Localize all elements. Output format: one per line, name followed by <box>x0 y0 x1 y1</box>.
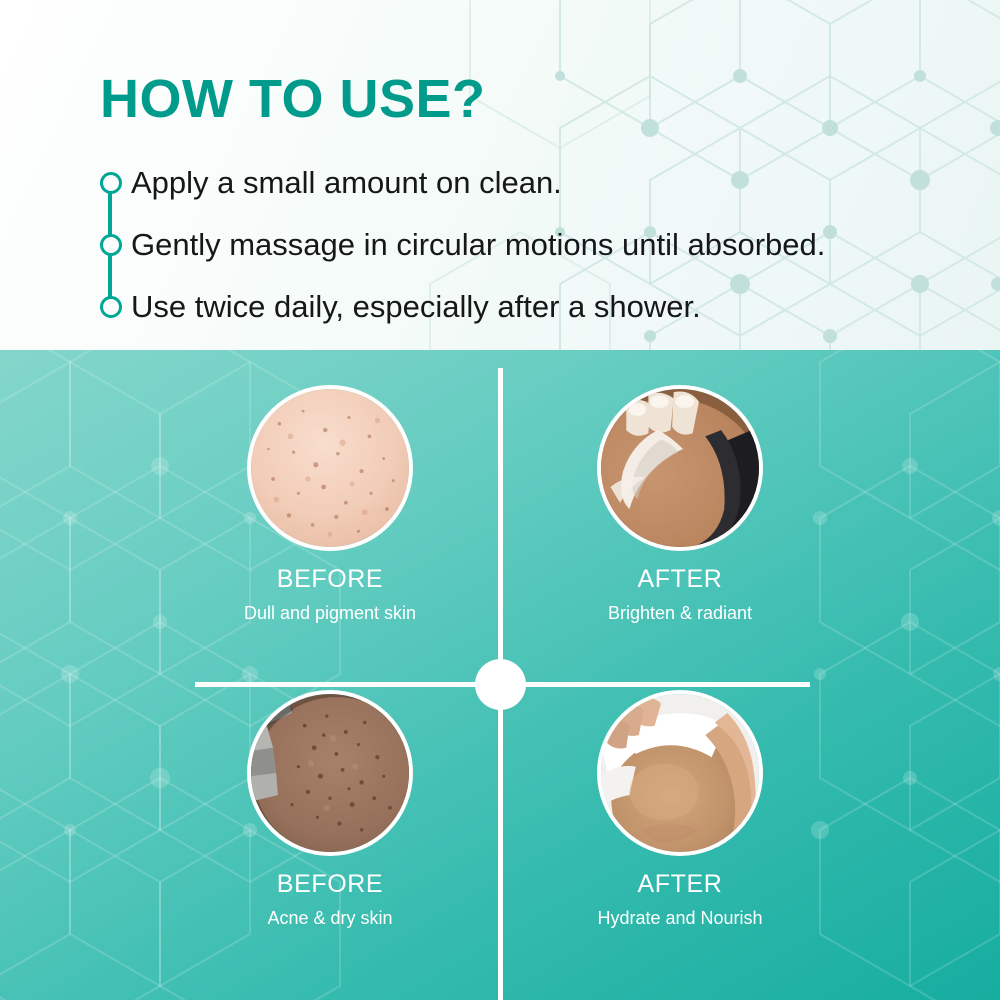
comparison-caption: Dull and pigment skin <box>170 603 490 624</box>
step-marker-icon <box>100 234 122 256</box>
before-after-comparison-panel: BEFORE Dull and pigment skin <box>0 350 1000 1000</box>
comparison-label: AFTER <box>520 565 840 594</box>
comparison-cell-bottom-right: AFTER Hydrate and Nourish <box>520 690 840 929</box>
comparison-cell-bottom-left: BEFORE Acne & dry skin <box>170 690 490 929</box>
after-hydrated-skin-photo <box>597 690 763 856</box>
step-text: Use twice daily, especially after a show… <box>131 290 701 324</box>
how-to-use-poster: HOW TO USE? Apply a small amount on clea… <box>0 0 1000 1000</box>
page-title: HOW TO USE? <box>100 72 486 126</box>
step-marker-icon <box>100 172 122 194</box>
step-item: Gently massage in circular motions until… <box>97 214 957 276</box>
usage-steps-list: Apply a small amount on clean. Gently ma… <box>97 152 957 338</box>
step-item: Use twice daily, especially after a show… <box>97 276 957 338</box>
comparison-cell-top-left: BEFORE Dull and pigment skin <box>170 385 490 624</box>
comparison-label: AFTER <box>520 870 840 899</box>
step-text: Apply a small amount on clean. <box>131 166 562 200</box>
step-item: Apply a small amount on clean. <box>97 152 957 214</box>
comparison-caption: Brighten & radiant <box>520 603 840 624</box>
comparison-cell-top-right: AFTER Brighten & radiant <box>520 385 840 624</box>
step-text: Gently massage in circular motions until… <box>131 228 825 262</box>
comparison-label: BEFORE <box>170 870 490 899</box>
instructions-panel: HOW TO USE? Apply a small amount on clea… <box>0 0 1000 350</box>
after-cream-application-photo <box>597 385 763 551</box>
comparison-caption: Acne & dry skin <box>170 908 490 929</box>
comparison-label: BEFORE <box>170 565 490 594</box>
before-acne-skin-photo <box>247 690 413 856</box>
before-dull-skin-photo <box>247 385 413 551</box>
comparison-caption: Hydrate and Nourish <box>520 908 840 929</box>
step-marker-icon <box>100 296 122 318</box>
